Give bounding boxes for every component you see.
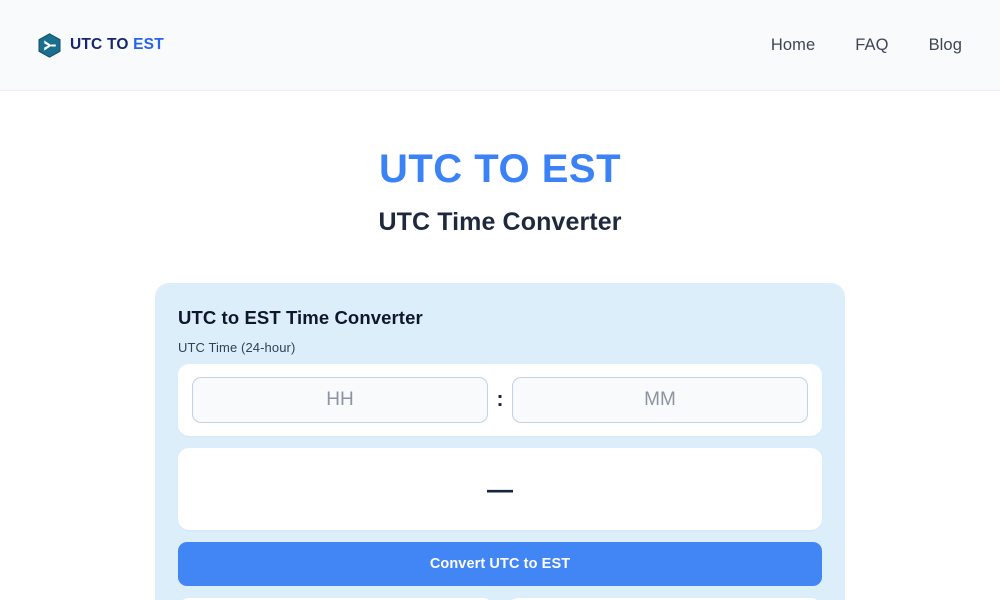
nav-link-faq[interactable]: FAQ [855,36,888,55]
brand-name: UTC TO EST [70,36,164,54]
brand-name-accent: EST [133,36,164,53]
conversion-result-value: — [487,476,513,502]
main-navigation: Home FAQ Blog [771,36,962,55]
time-input-group: : [178,364,822,436]
hexagon-arrow-logo-icon [38,33,61,58]
conversion-result-panel: — [178,448,822,530]
page-title: UTC TO EST [0,147,1000,192]
nav-link-blog[interactable]: Blog [929,36,962,55]
convert-button[interactable]: Convert UTC to EST [178,542,822,586]
brand-logo-link[interactable]: UTC TO EST [38,33,164,58]
brand-name-primary: UTC TO [70,36,133,53]
site-header: UTC TO EST Home FAQ Blog [0,0,1000,91]
converter-card: UTC to EST Time Converter UTC Time (24-h… [155,283,845,600]
page-subtitle: UTC Time Converter [0,208,1000,237]
hero-section: UTC TO EST UTC Time Converter [0,91,1000,237]
utc-minutes-input[interactable] [512,377,808,423]
time-colon-separator: : [488,389,512,410]
nav-link-home[interactable]: Home [771,36,815,55]
utc-hours-input[interactable] [192,377,488,423]
converter-card-title: UTC to EST Time Converter [178,307,822,329]
utc-time-label: UTC Time (24-hour) [178,340,822,355]
